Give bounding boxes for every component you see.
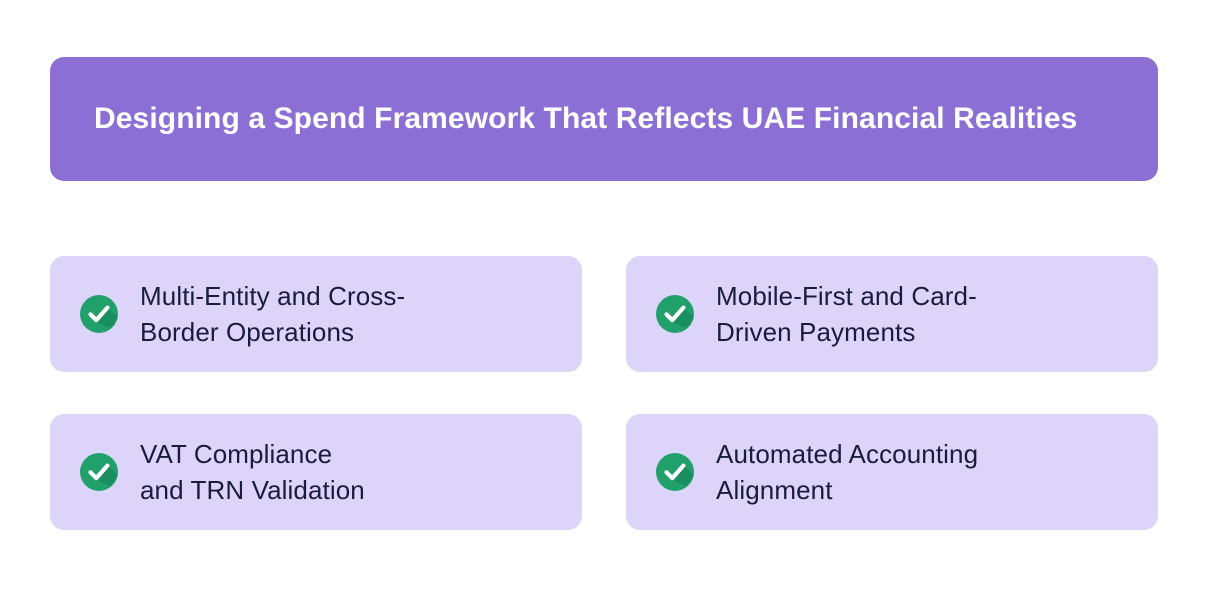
check-circle-icon [656,453,694,491]
header-banner: Designing a Spend Framework That Reflect… [50,57,1158,181]
feature-card-label: Automated Accounting Alignment [716,436,978,508]
feature-card: Mobile-First and Card- Driven Payments [626,256,1158,372]
feature-card-label: VAT Compliance and TRN Validation [140,436,365,508]
feature-card: Automated Accounting Alignment [626,414,1158,530]
feature-card: VAT Compliance and TRN Validation [50,414,582,530]
feature-card-label: Multi-Entity and Cross- Border Operation… [140,278,405,350]
feature-card-grid: Multi-Entity and Cross- Border Operation… [50,256,1158,530]
infographic-root: Designing a Spend Framework That Reflect… [0,0,1208,610]
check-circle-icon [656,295,694,333]
page-title: Designing a Spend Framework That Reflect… [94,101,1077,137]
feature-card: Multi-Entity and Cross- Border Operation… [50,256,582,372]
check-circle-icon [80,453,118,491]
check-circle-icon [80,295,118,333]
feature-card-label: Mobile-First and Card- Driven Payments [716,278,977,350]
